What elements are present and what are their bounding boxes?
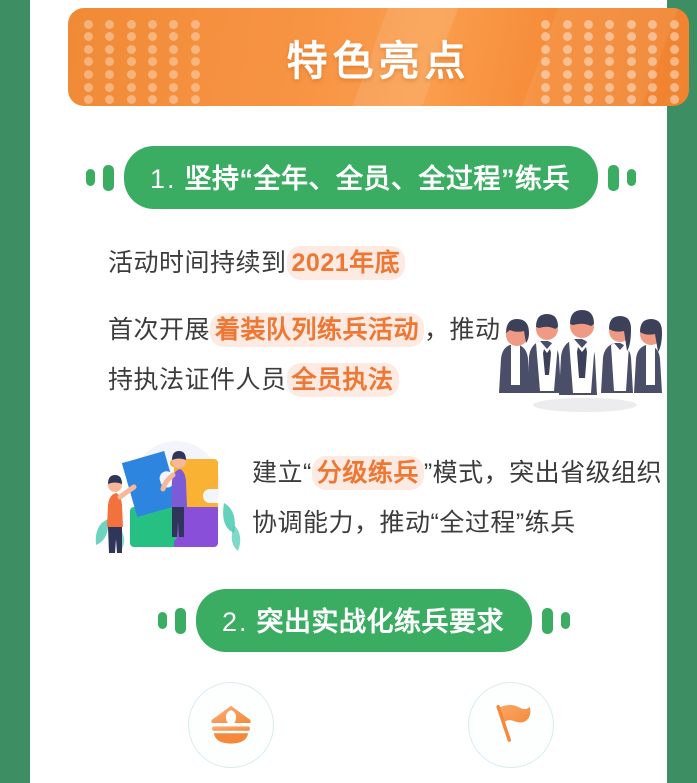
puzzle-teamwork-illustration: [88, 433, 246, 561]
double-pill-marks-left-icon: [86, 165, 114, 191]
double-pill-marks-left-icon-2: [158, 608, 186, 634]
section-2-label: 突出实战化练兵要求: [257, 607, 505, 637]
police-cap-icon-button[interactable]: [188, 682, 274, 768]
highlighted-text: 2021年底: [287, 246, 406, 280]
section-2-pill[interactable]: 2. 突出实战化练兵要求: [196, 589, 532, 652]
paragraph-tiered-training: 建立“分级练兵”模式，突出省级组织协调能力，推动“全过程”练兵: [252, 448, 672, 548]
section-heading-1: 1. 坚持“全年、全员、全过程”练兵: [86, 146, 636, 209]
section-1-label: 坚持“全年、全员、全过程”练兵: [185, 164, 571, 194]
banner-title: 特色亮点: [68, 8, 689, 106]
double-pill-marks-right-icon: [608, 165, 636, 191]
double-pill-marks-right-icon-2: [542, 608, 570, 634]
body-text: 首次开展: [108, 316, 210, 344]
banner-header: 特色亮点: [68, 8, 689, 106]
section-2-number: 2.: [222, 607, 249, 637]
section-1-pill[interactable]: 1. 坚持“全年、全员、全过程”练兵: [124, 146, 598, 209]
body-text: 活动时间持续到: [108, 249, 287, 277]
paragraph-activity-period: 活动时间持续到2021年底: [108, 238, 528, 288]
body-text: 建立“: [252, 459, 312, 487]
flag-icon-button[interactable]: [468, 682, 554, 768]
business-team-illustration: [496, 283, 674, 415]
paragraph-uniform-drill: 首次开展着装队列练兵活动，推动持执法证件人员全员执法: [108, 305, 508, 405]
content-card: 特色亮点 1. 坚持“全年、全员、全过程”练兵 活动时间持续到2021年底 首次…: [30, 0, 667, 783]
section-heading-2: 2. 突出实战化练兵要求: [158, 589, 570, 652]
highlighted-text: 着装队列练兵活动: [210, 313, 424, 347]
highlighted-text: 分级练兵: [312, 456, 424, 490]
section-1-number: 1.: [150, 164, 177, 194]
flag-icon: [487, 699, 535, 752]
highlighted-text: 全员执法: [287, 363, 399, 397]
police-cap-icon: [207, 699, 255, 752]
poster-background: 特色亮点 1. 坚持“全年、全员、全过程”练兵 活动时间持续到2021年底 首次…: [0, 0, 697, 783]
